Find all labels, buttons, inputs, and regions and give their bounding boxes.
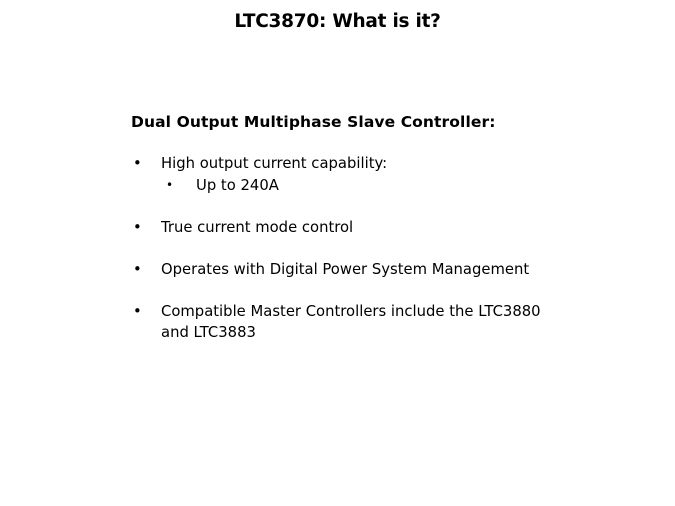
sub-list-item-label: Up to 240A	[196, 175, 561, 196]
sub-list-item: • Up to 240A	[166, 175, 561, 196]
list-item: • High output current capability: • Up t…	[131, 153, 561, 196]
bullet-dot-icon: •	[133, 153, 145, 174]
bullet-dot-icon: •	[133, 217, 145, 238]
bullet-dot-icon: •	[133, 301, 145, 322]
list-item-label: Compatible Master Controllers include th…	[161, 301, 561, 343]
slide-subheading: Dual Output Multiphase Slave Controller:	[131, 112, 561, 132]
list-item-label: True current mode control	[161, 217, 561, 238]
list-item-label: High output current capability:	[161, 153, 561, 174]
slide-body: Dual Output Multiphase Slave Controller:…	[131, 112, 561, 343]
page-title: LTC3870: What is it?	[0, 11, 675, 33]
list-item: • Compatible Master Controllers include …	[131, 301, 561, 343]
sub-bullet-dot-icon: •	[166, 175, 178, 196]
list-item-label: Operates with Digital Power System Manag…	[161, 259, 561, 280]
sub-bullet-list: • Up to 240A	[161, 175, 561, 196]
list-item: • Operates with Digital Power System Man…	[131, 259, 561, 280]
bullet-list: • High output current capability: • Up t…	[131, 153, 561, 343]
slide-canvas: LTC3870: What is it? Dual Output Multiph…	[0, 0, 675, 506]
bullet-dot-icon: •	[133, 259, 145, 280]
list-item: • True current mode control	[131, 217, 561, 238]
